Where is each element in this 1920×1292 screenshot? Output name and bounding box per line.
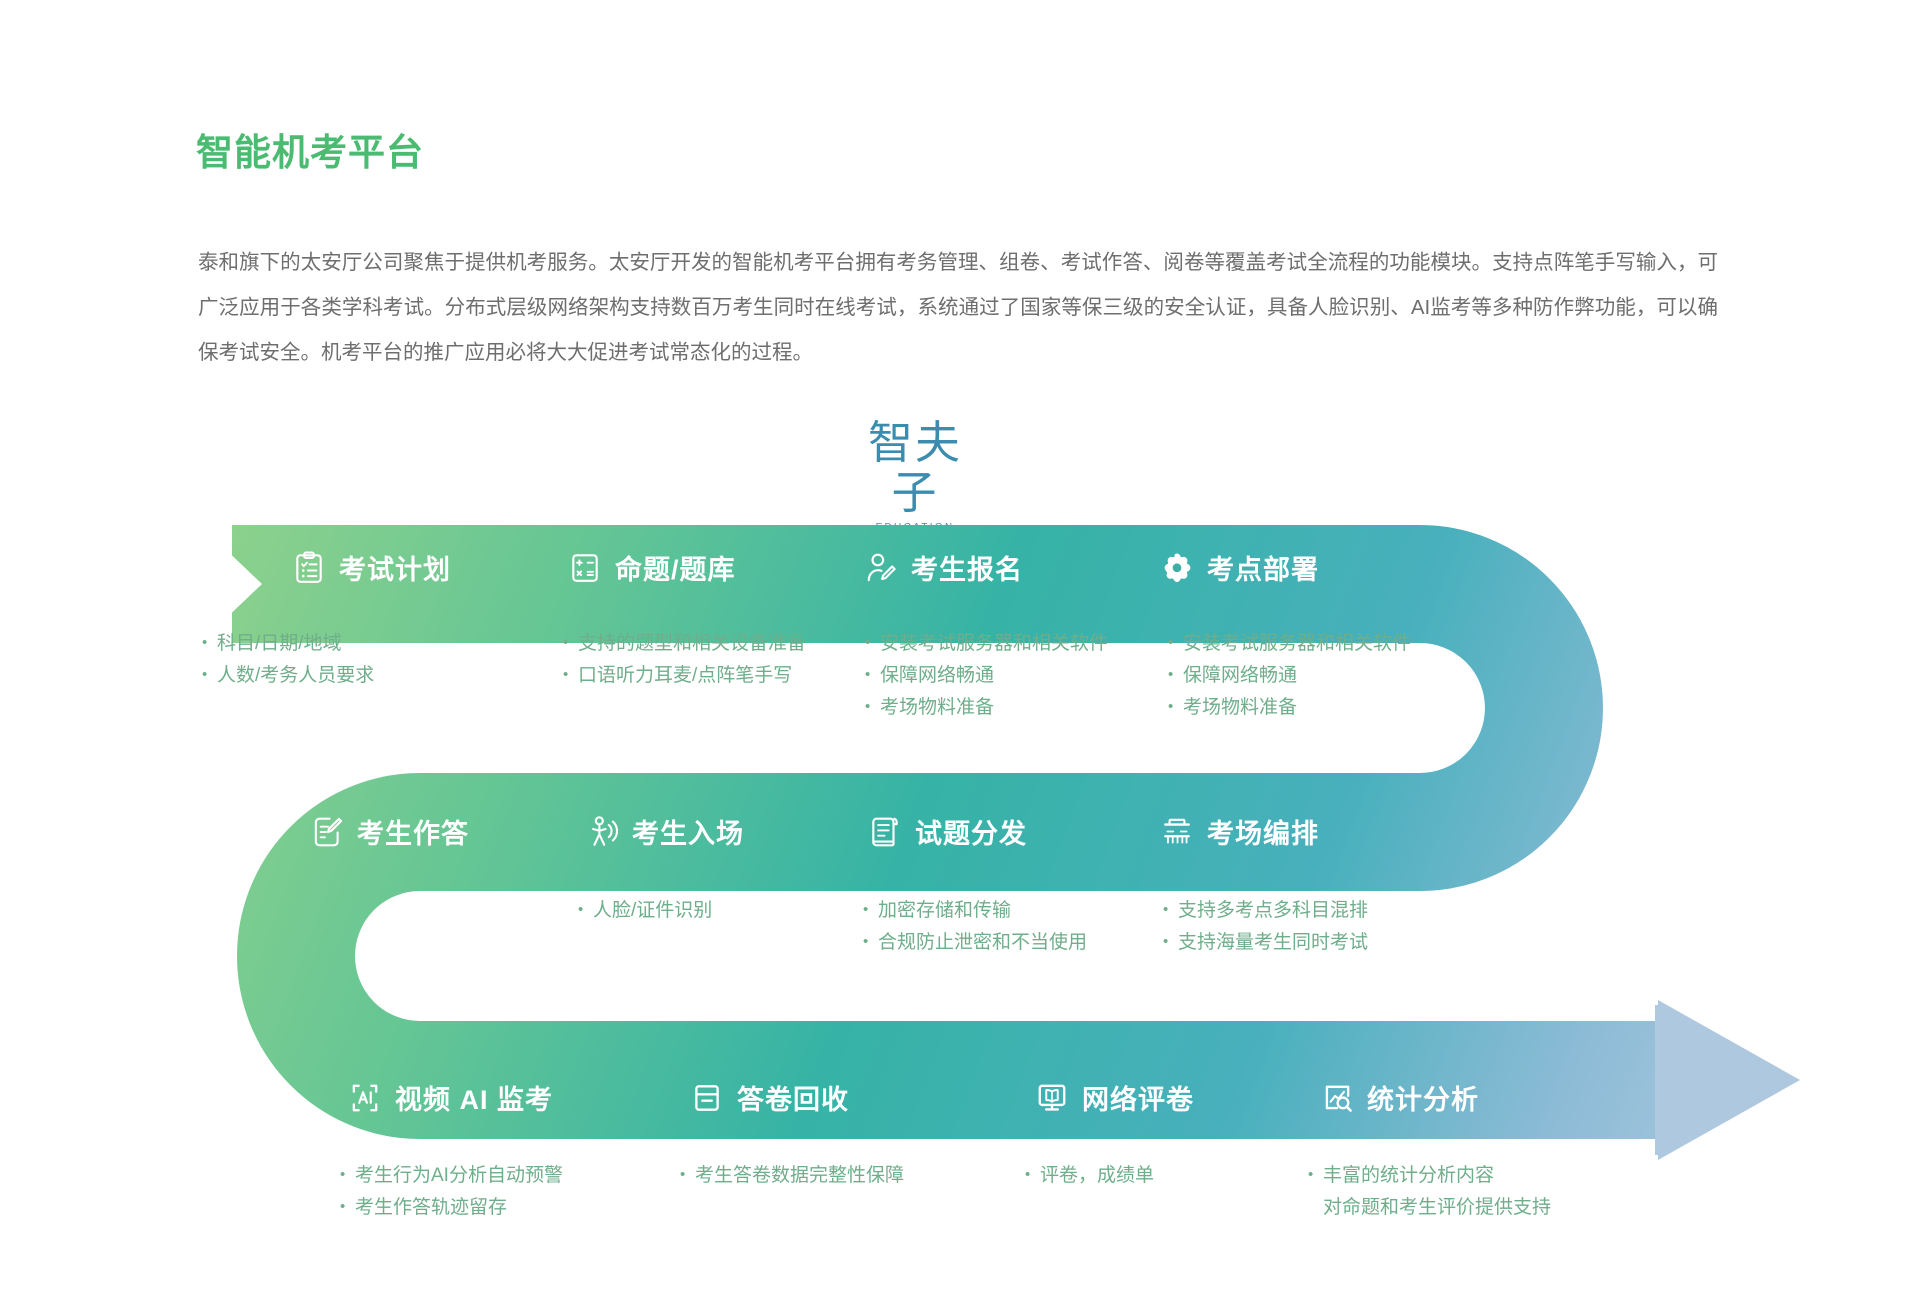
flow-node-paper-distribution[interactable]: 试题分发 [868, 812, 1027, 851]
bullet-item: 考生行为AI分析自动预警 [340, 1160, 563, 1192]
calculator-icon [568, 551, 602, 585]
flow-node-registration[interactable]: 考生报名 [864, 548, 1023, 587]
flow-node-label: 考场编排 [1207, 812, 1319, 851]
walking-person-icon [585, 815, 619, 849]
bullet-item: 合规防止泄密和不当使用 [863, 927, 1087, 959]
bullet-item: 丰富的统计分析内容 [1308, 1160, 1551, 1192]
document-pen-icon [310, 815, 344, 849]
flow-arrow-triangle [1658, 1000, 1800, 1160]
flow-node-label: 网络评卷 [1082, 1078, 1194, 1117]
page-title: 智能机考平台 [196, 122, 424, 176]
bullet-item: 口语听力耳麦/点阵笔手写 [563, 660, 806, 692]
flow-node-paper-collection[interactable]: 答卷回收 [690, 1078, 849, 1117]
bullet-item: 人数/考务人员要求 [202, 660, 374, 692]
flow-node-ai-proctoring[interactable]: 视频 AI 监考 [348, 1078, 553, 1117]
flow-node-label: 视频 AI 监考 [395, 1078, 553, 1117]
flow-bullets-statistics: 丰富的统计分析内容 对命题和考生评价提供支持 [1308, 1160, 1551, 1224]
flow-node-label: 考点部署 [1207, 548, 1319, 587]
flow-node-online-marking[interactable]: 网络评卷 [1035, 1078, 1194, 1117]
flow-bullets-item-bank: 支持的题型和相关设备准备 口语听力耳麦/点阵笔手写 [563, 628, 806, 692]
ai-bracket-icon [348, 1081, 382, 1115]
flow-node-site-deploy[interactable]: 考点部署 [1160, 548, 1319, 587]
classroom-desks-icon [1160, 815, 1194, 849]
gear-icon [1160, 551, 1194, 585]
flow-node-label: 考生入场 [632, 812, 744, 851]
collection-box-icon [690, 1081, 724, 1115]
bullet-item: 人脸/证件识别 [578, 895, 712, 927]
flow-bullets-ai-proctoring: 考生行为AI分析自动预警 考生作答轨迹留存 [340, 1160, 563, 1224]
flow-bullets-site-deploy: 安装考试服务器和相关软件 保障网络畅通 考场物料准备 [1168, 628, 1411, 724]
flow-node-label: 试题分发 [915, 812, 1027, 851]
flow-bullets-room-arrangement: 支持多考点多科目混排 支持海量考生同时考试 [1163, 895, 1368, 959]
bullet-item: 考生答卷数据完整性保障 [680, 1160, 904, 1192]
bullet-item: 科目/日期/地域 [202, 628, 374, 660]
flow-node-label: 考生作答 [357, 812, 469, 851]
process-flow-band [0, 500, 1920, 1230]
flow-node-label: 考试计划 [339, 548, 451, 587]
bullet-item: 评卷，成绩单 [1025, 1160, 1154, 1192]
bullet-item: 支持的题型和相关设备准备 [563, 628, 806, 660]
flow-node-exam-plan[interactable]: 考试计划 [292, 548, 451, 587]
flow-node-room-arrangement[interactable]: 考场编排 [1160, 812, 1319, 851]
flow-node-answering[interactable]: 考生作答 [310, 812, 469, 851]
flow-node-label: 统计分析 [1367, 1078, 1479, 1117]
clipboard-checklist-icon [292, 551, 326, 585]
flow-bullets-exam-plan: 科目/日期/地域 人数/考务人员要求 [202, 628, 374, 692]
flow-node-entry[interactable]: 考生入场 [585, 812, 744, 851]
bullet-item: 考生作答轨迹留存 [340, 1192, 563, 1224]
intro-paragraph: 泰和旗下的太安厅公司聚焦于提供机考服务。太安厅开发的智能机考平台拥有考务管理、组… [198, 240, 1718, 375]
flow-node-item-bank[interactable]: 命题/题库 [568, 548, 736, 587]
bullet-item: 安装考试服务器和相关软件 [1168, 628, 1411, 660]
bullet-item: 安装考试服务器和相关软件 [865, 628, 1108, 660]
bullet-item: 保障网络畅通 [865, 660, 1108, 692]
bullet-item: 考场物料准备 [865, 692, 1108, 724]
bullet-item: 对命题和考生评价提供支持 [1308, 1192, 1551, 1224]
flow-bullets-entry: 人脸/证件识别 [578, 895, 712, 927]
monitor-book-icon [1035, 1081, 1069, 1115]
flow-bullets-paper-distribution: 加密存储和传输 合规防止泄密和不当使用 [863, 895, 1087, 959]
chart-magnifier-icon [1320, 1081, 1354, 1115]
bullet-item: 支持海量考生同时考试 [1163, 927, 1368, 959]
flow-node-label: 考生报名 [911, 548, 1023, 587]
flow-bullets-paper-collection: 考生答卷数据完整性保障 [680, 1160, 904, 1192]
flow-node-label: 答卷回收 [737, 1078, 849, 1117]
flow-bullets-online-marking: 评卷，成绩单 [1025, 1160, 1154, 1192]
flow-node-statistics[interactable]: 统计分析 [1320, 1078, 1479, 1117]
bullet-item: 考场物料准备 [1168, 692, 1411, 724]
bullet-item: 支持多考点多科目混排 [1163, 895, 1368, 927]
person-edit-icon [864, 551, 898, 585]
scroll-icon [868, 815, 902, 849]
flow-node-label: 命题/题库 [615, 548, 736, 587]
flow-bullets-registration: 安装考试服务器和相关软件 保障网络畅通 考场物料准备 [865, 628, 1108, 724]
bullet-item: 保障网络畅通 [1168, 660, 1411, 692]
bullet-item: 加密存储和传输 [863, 895, 1087, 927]
